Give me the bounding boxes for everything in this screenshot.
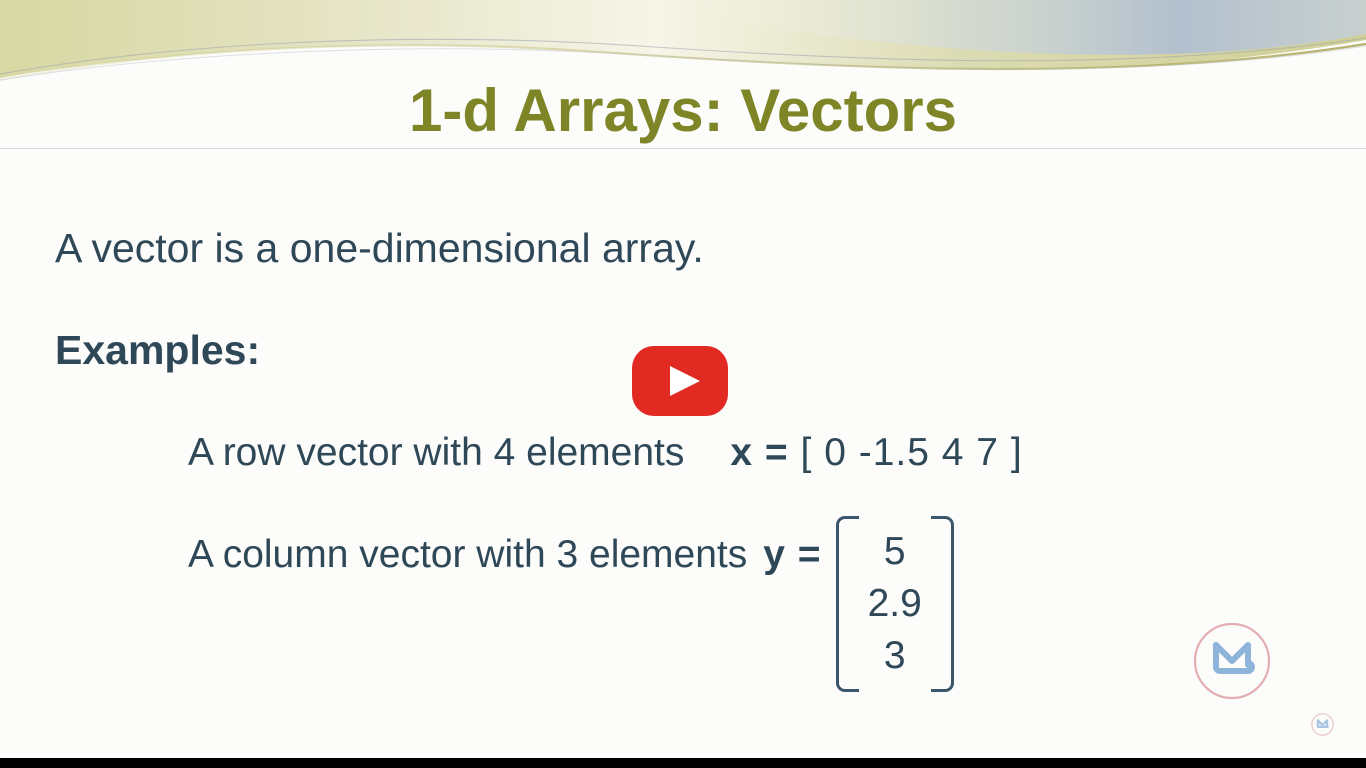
play-button[interactable] [632, 346, 728, 416]
slide-surface: 1-d Arrays: Vectors A vector is a one-di… [0, 0, 1366, 758]
row-vector-values: 0 -1.5 4 7 [824, 431, 999, 474]
row-vector-label: A row vector with 4 elements [188, 428, 684, 478]
vector-definition-text: A vector is a one-dimensional array. [55, 222, 704, 274]
column-vector-values: 5 2.9 3 [858, 522, 932, 686]
column-vector-bracket: 5 2.9 3 [836, 516, 954, 692]
brand-watermark-icon [1311, 713, 1334, 736]
slide-title: 1-d Arrays: Vectors [0, 76, 1366, 146]
column-vector-label: A column vector with 3 elements [188, 530, 747, 580]
column-vector-variable: y = [763, 530, 821, 580]
matrix-cell: 3 [884, 630, 906, 682]
video-player[interactable]: 1-d Arrays: Vectors A vector is a one-di… [0, 0, 1366, 768]
matrix-cell: 2.9 [868, 578, 922, 630]
brand-logo-icon [1192, 621, 1272, 701]
row-vector-variable: x = [730, 431, 788, 474]
row-vector-example: A row vector with 4 elements x = [ 0 -1.… [188, 428, 1023, 478]
column-vector-example: A column vector with 3 elements y = 5 2.… [188, 530, 954, 692]
player-bottom-bar[interactable] [0, 758, 1366, 768]
row-vector-close-bracket: ] [1011, 431, 1023, 474]
row-vector-open-bracket: [ [801, 431, 813, 474]
title-divider-rule [0, 148, 1366, 149]
matrix-cell: 5 [884, 526, 906, 578]
row-vector-equation: x = [ 0 -1.5 4 7 ] [730, 428, 1022, 478]
examples-heading: Examples: [55, 324, 260, 376]
